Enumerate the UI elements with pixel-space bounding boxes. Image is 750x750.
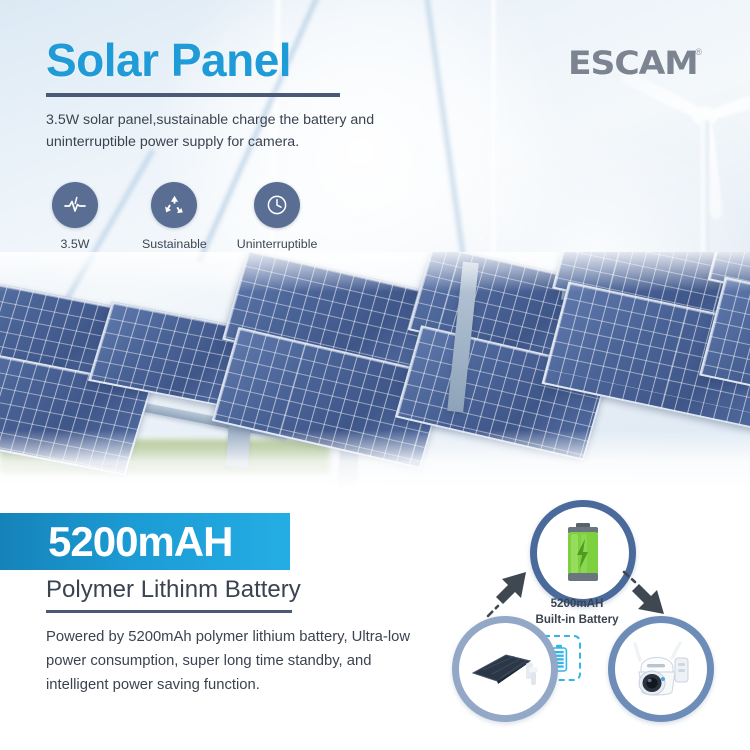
capacity-value: 5200mAH [48, 521, 232, 563]
feature-label: Uninterruptible [237, 237, 318, 251]
feature-label: 3.5W [61, 237, 90, 251]
solar-panel-icon [470, 643, 540, 695]
solar-panel-node [452, 616, 558, 722]
pole-background [490, 0, 497, 280]
grass-strip [0, 440, 330, 474]
feature-label: Sustainable [142, 237, 207, 251]
escam-logo: ESCAM ® [568, 44, 702, 82]
feature-item-uninterruptible: Uninterruptible [237, 182, 318, 251]
solar-panel-hero-section: ESCAM ® Solar Panel 3.5W solar panel,sus… [0, 0, 750, 488]
pulse-icon [52, 182, 98, 228]
clock-icon [254, 182, 300, 228]
battery-caption-line2: Built-in Battery [522, 612, 632, 628]
arrow-solar-to-battery-icon [482, 566, 538, 622]
capacity-banner: 5200mAH [0, 513, 290, 570]
feature-item-power: 3.5W [52, 182, 98, 251]
arrow-battery-to-camera-icon [618, 566, 674, 622]
subtitle-divider [46, 610, 292, 613]
page-title: Solar Panel [46, 36, 466, 84]
hero-headline-block: Solar Panel 3.5W solar panel,sustainable… [46, 36, 466, 153]
feature-item-sustainable: Sustainable [142, 182, 207, 251]
solar-panel-array-photo [0, 252, 750, 488]
title-divider [46, 93, 340, 97]
escam-wordmark: ESCAM [568, 44, 698, 82]
camera-node [608, 616, 714, 722]
battery-caption: 5200mAH Built-in Battery [522, 596, 632, 627]
recycle-icon [151, 182, 197, 228]
battery-description: Powered by 5200mAh polymer lithium batte… [46, 626, 426, 698]
battery-section: 5200mAH Polymer Lithinm Battery Powered … [0, 488, 750, 750]
green-battery-icon [561, 522, 605, 584]
battery-subtitle: Polymer Lithinm Battery [46, 576, 301, 604]
power-flow-diagram: 5200mAH Built-in Battery [440, 488, 750, 750]
battery-caption-line1: 5200mAH [522, 596, 632, 612]
hero-description: 3.5W solar panel,sustainable charge the … [46, 110, 406, 153]
feature-list: 3.5W Sustainable Uninterruptible [46, 182, 317, 251]
ptz-camera-icon [625, 638, 697, 700]
